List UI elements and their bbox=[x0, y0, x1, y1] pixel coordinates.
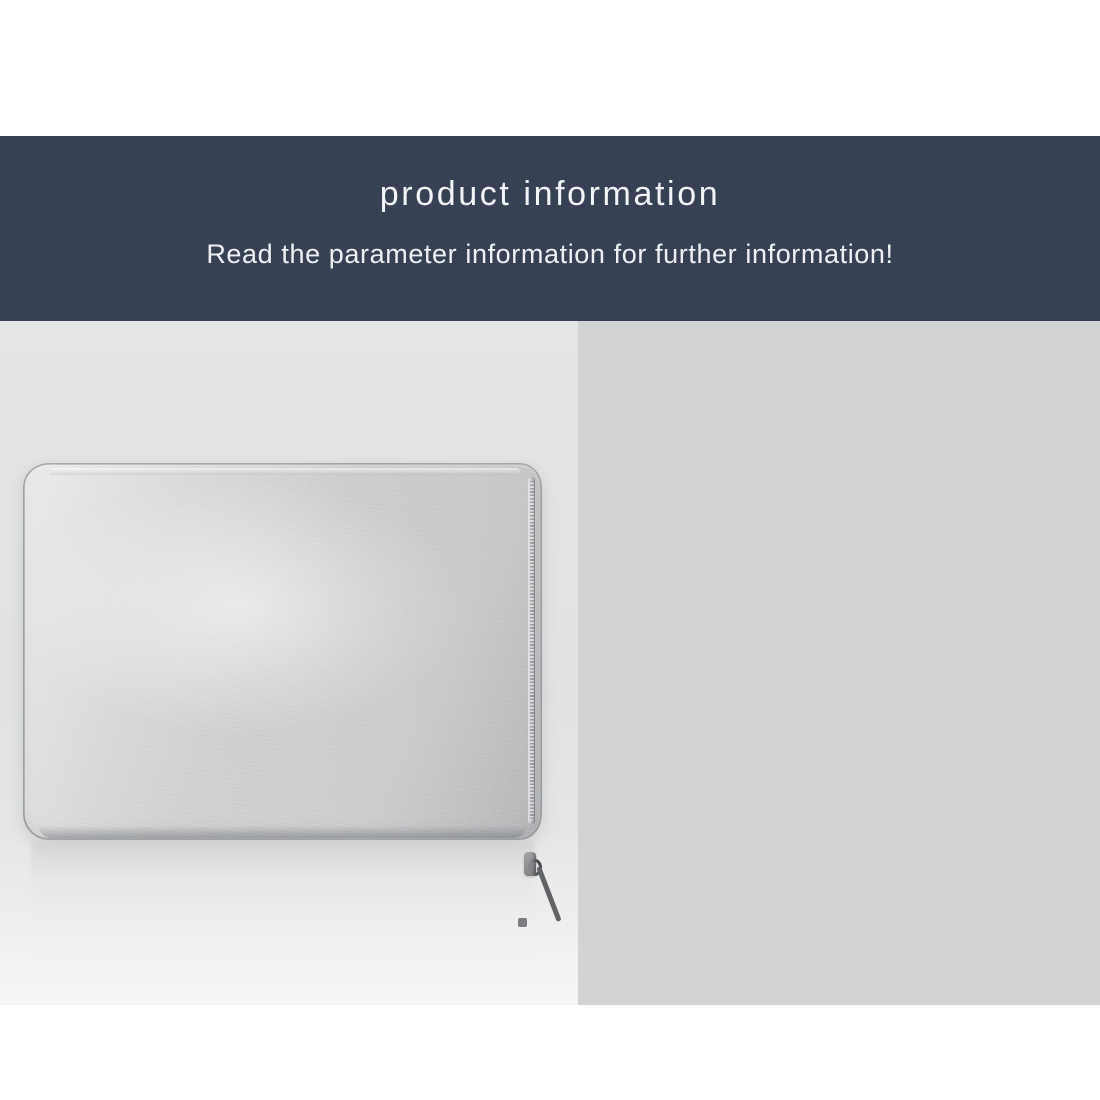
product-photo bbox=[0, 321, 578, 1005]
stage-floor-glow bbox=[0, 826, 578, 1005]
page-title: product information bbox=[380, 176, 720, 213]
spec-panel: inch external internal weight 11.6 33.5×… bbox=[578, 321, 1100, 1005]
header-banner: product information Read the parameter i… bbox=[0, 136, 1100, 321]
top-seam bbox=[49, 468, 520, 475]
page-subtitle: Read the parameter information for furth… bbox=[206, 239, 893, 270]
zipper-teeth bbox=[530, 481, 534, 820]
laptop-sleeve-body bbox=[23, 463, 542, 840]
product-information-page: product information Read the parameter i… bbox=[0, 0, 1100, 1100]
product-image-panel bbox=[0, 321, 578, 1005]
fabric-sheen bbox=[25, 465, 540, 838]
